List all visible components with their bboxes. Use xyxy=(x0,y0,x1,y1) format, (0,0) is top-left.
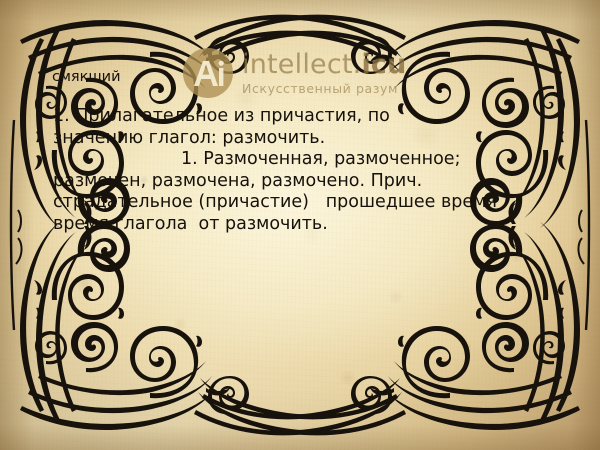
definition-text: 1. Прилагательное из причастия, по значе… xyxy=(53,106,523,235)
border-accent-left-b xyxy=(16,238,22,264)
watermark-title: intellect.icu xyxy=(242,51,407,78)
ai-logo-icon xyxy=(183,48,233,98)
border-accent-left-a xyxy=(18,210,21,232)
watermark-title-bold: icu xyxy=(361,49,406,80)
watermark-subtitle: Искусственный разум xyxy=(242,83,407,96)
border-accent-right-a xyxy=(579,210,582,232)
watermark: intellect.icu Искусственный разум xyxy=(183,48,407,98)
border-line-right xyxy=(586,120,589,330)
dictionary-entry-card: intellect.icu Искусственный разум смякши… xyxy=(0,0,600,450)
watermark-text: intellect.icu Искусственный разум xyxy=(242,51,407,96)
border-line-left xyxy=(11,120,14,330)
border-accent-right-b xyxy=(578,238,584,264)
headword: смякший xyxy=(52,69,121,85)
watermark-title-light: intellect. xyxy=(242,49,361,80)
